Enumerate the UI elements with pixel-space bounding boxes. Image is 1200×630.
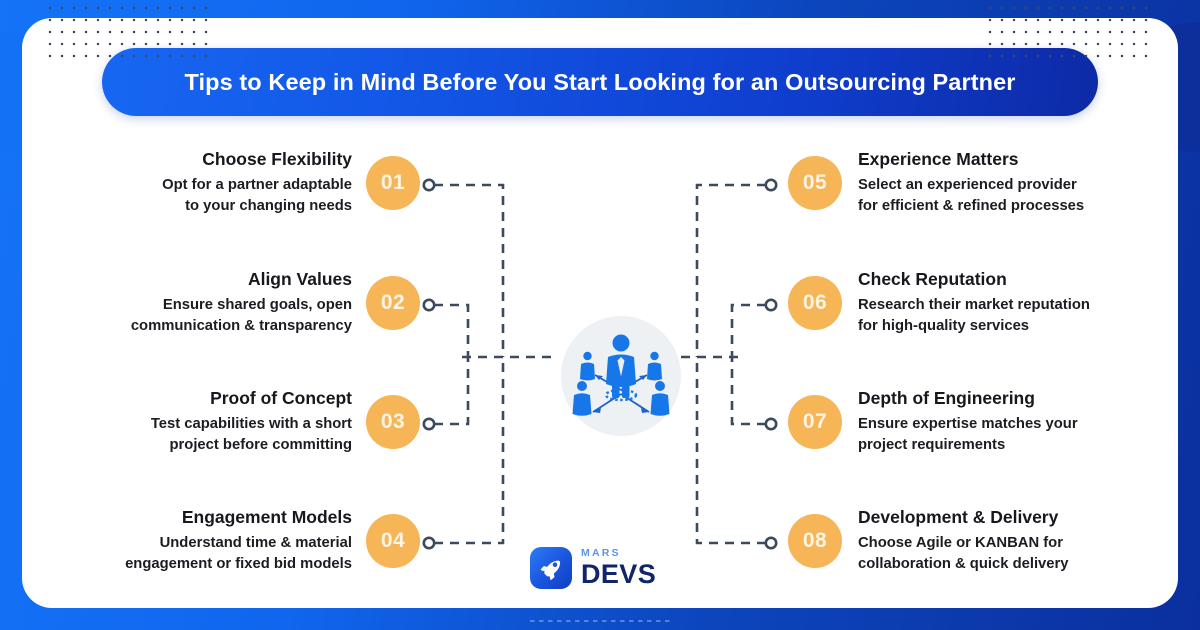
connector-endpoint-04 — [424, 538, 434, 548]
connector-lines — [22, 18, 1178, 608]
connector-endpoint-03 — [424, 419, 434, 429]
connector-endpoint-08 — [766, 538, 776, 548]
connector-endpoint-05 — [766, 180, 776, 190]
connector-endpoint-07 — [766, 419, 776, 429]
connector-endpoint-06 — [766, 300, 776, 310]
decorative-dashed-line-bottom — [530, 620, 670, 622]
center-hub — [561, 316, 681, 436]
connector-endpoint-01 — [424, 180, 434, 190]
team-network-icon — [565, 320, 677, 432]
connector-endpoint-02 — [424, 300, 434, 310]
infographic-card: Tips to Keep in Mind Before You Start Lo… — [22, 18, 1178, 608]
